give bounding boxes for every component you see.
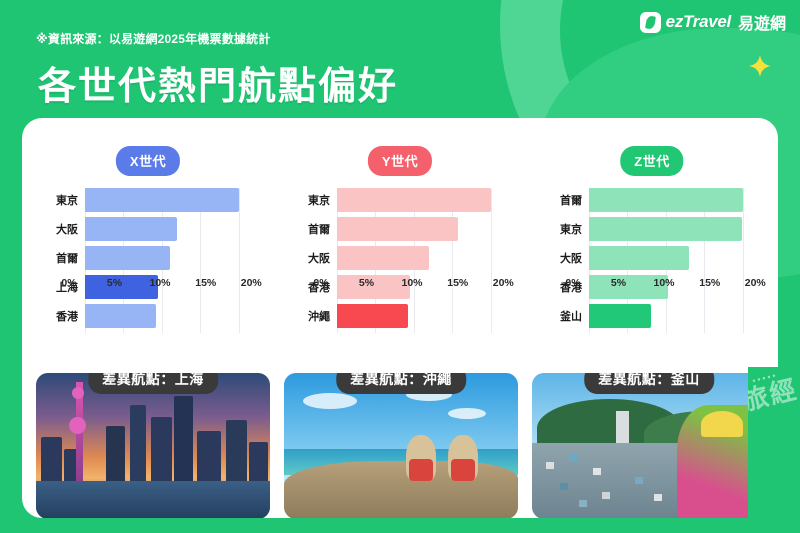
bar-row: 香港 [38,304,258,328]
bar-category-label: 釜山 [542,308,589,324]
content-card: X世代 東京 大阪 [22,118,778,518]
axis-tick: 0% [61,277,76,289]
axis-tick: 10% [654,277,675,289]
chart-gen-x: X世代 東京 大阪 [22,130,274,365]
bar-category-label: 首爾 [290,221,337,237]
watermark-strip: ••••• 旅經 [748,367,800,533]
bar-row: 東京 [290,188,510,212]
bar-value-highlight [337,304,408,328]
bar-category-label: 大阪 [38,221,85,237]
plot-area-z: 首爾 東京 大阪 香港 [542,188,762,333]
busan-apartment-tower [616,411,629,443]
bar-value [337,217,458,241]
sparkle-star-icon [749,55,771,77]
plot-area-y: 東京 首爾 大阪 香港 [290,188,510,333]
x-axis-y: 0% 5% 10% 15% 20% [321,275,526,293]
photo-caption: 差異航點：釜山 [584,373,714,394]
okinawa-coral-rock [284,461,518,518]
photo-card-okinawa[interactable]: 差異航點：沖繩 [284,373,518,518]
bar-category-label: 東京 [38,192,85,208]
bar-value [85,304,156,328]
bars-z: 首爾 東京 大阪 香港 [542,188,762,333]
bar-row: 沖繩 [290,304,510,328]
axis-tick: 15% [447,277,468,289]
photos-row: 差異航點：上海 差異航點：沖繩 [36,373,766,518]
bar-category-label: 沖繩 [290,308,337,324]
x-axis-z: 0% 5% 10% 15% 20% [573,275,778,293]
axis-tick: 20% [745,277,766,289]
plot-area-x: 東京 大阪 首爾 上海 [38,188,258,333]
infographic-root: ezTravel 易遊網 ※資訊來源：以易遊網2025年機票數據統計 各世代熱門… [0,0,800,533]
bar-value [589,217,742,241]
bar-value [85,246,170,270]
photo-caption: 差異航點：上海 [88,373,218,394]
bars-y: 東京 首爾 大阪 香港 [290,188,510,333]
axis-tick: 15% [699,277,720,289]
bar-category-label: 首爾 [542,192,589,208]
bar-value [337,188,491,212]
bar-row: 大阪 [290,246,510,270]
bar-row: 東京 [542,217,762,241]
shanghai-river [36,481,270,518]
shisa-figurine-left [406,435,436,481]
logo-chinese-text: 易遊網 [738,10,786,34]
axis-tick: 5% [611,277,626,289]
chart-title-badge-y: Y世代 [368,146,432,176]
axis-tick: 10% [150,277,171,289]
bar-category-label: 香港 [38,308,85,324]
bar-value [337,246,429,270]
axis-tick: 15% [195,277,216,289]
bar-category-label: 大阪 [290,250,337,266]
bar-category-label: 東京 [542,221,589,237]
page-title: 各世代熱門航點偏好 [38,55,398,110]
bar-category-label: 首爾 [38,250,85,266]
eztravel-logo[interactable]: ezTravel 易遊網 [640,10,786,34]
photo-card-shanghai[interactable]: 差異航點：上海 [36,373,270,518]
bar-row: 大阪 [542,246,762,270]
photo-caption: 差異航點：沖繩 [336,373,466,394]
bar-value [85,217,177,241]
bar-value [85,188,239,212]
logo-text: ezTravel [666,12,731,32]
x-axis-x: 0% 5% 10% 15% 20% [69,275,274,293]
leaf-mark-icon [640,12,661,33]
bars-x: 東京 大阪 首爾 上海 [38,188,258,333]
axis-tick: 5% [107,277,122,289]
bar-row: 首爾 [542,188,762,212]
bar-row: 首爾 [290,217,510,241]
chart-title-badge-z: Z世代 [620,146,683,176]
bar-row: 釜山 [542,304,762,328]
bar-row: 首爾 [38,246,258,270]
bar-value [589,188,743,212]
bar-value-highlight [589,304,651,328]
axis-tick: 20% [241,277,262,289]
source-note: ※資訊來源：以易遊網2025年機票數據統計 [36,30,271,47]
photo-card-busan[interactable]: 差異航點：釜山 [532,373,766,518]
axis-tick: 20% [493,277,514,289]
busan-figure-crown [701,411,743,437]
chart-gen-y: Y世代 東京 首爾 [274,130,526,365]
bar-value [589,246,689,270]
axis-tick: 5% [359,277,374,289]
bar-category-label: 東京 [290,192,337,208]
chart-title-badge-x: X世代 [116,146,180,176]
axis-tick: 0% [565,277,580,289]
chart-gen-z: Z世代 首爾 東京 [526,130,778,365]
charts-row: X世代 東京 大阪 [22,130,778,365]
shisa-figurine-right [448,435,478,481]
axis-tick: 10% [402,277,423,289]
bar-row: 東京 [38,188,258,212]
axis-tick: 0% [313,277,328,289]
bar-row: 大阪 [38,217,258,241]
bar-category-label: 大阪 [542,250,589,266]
